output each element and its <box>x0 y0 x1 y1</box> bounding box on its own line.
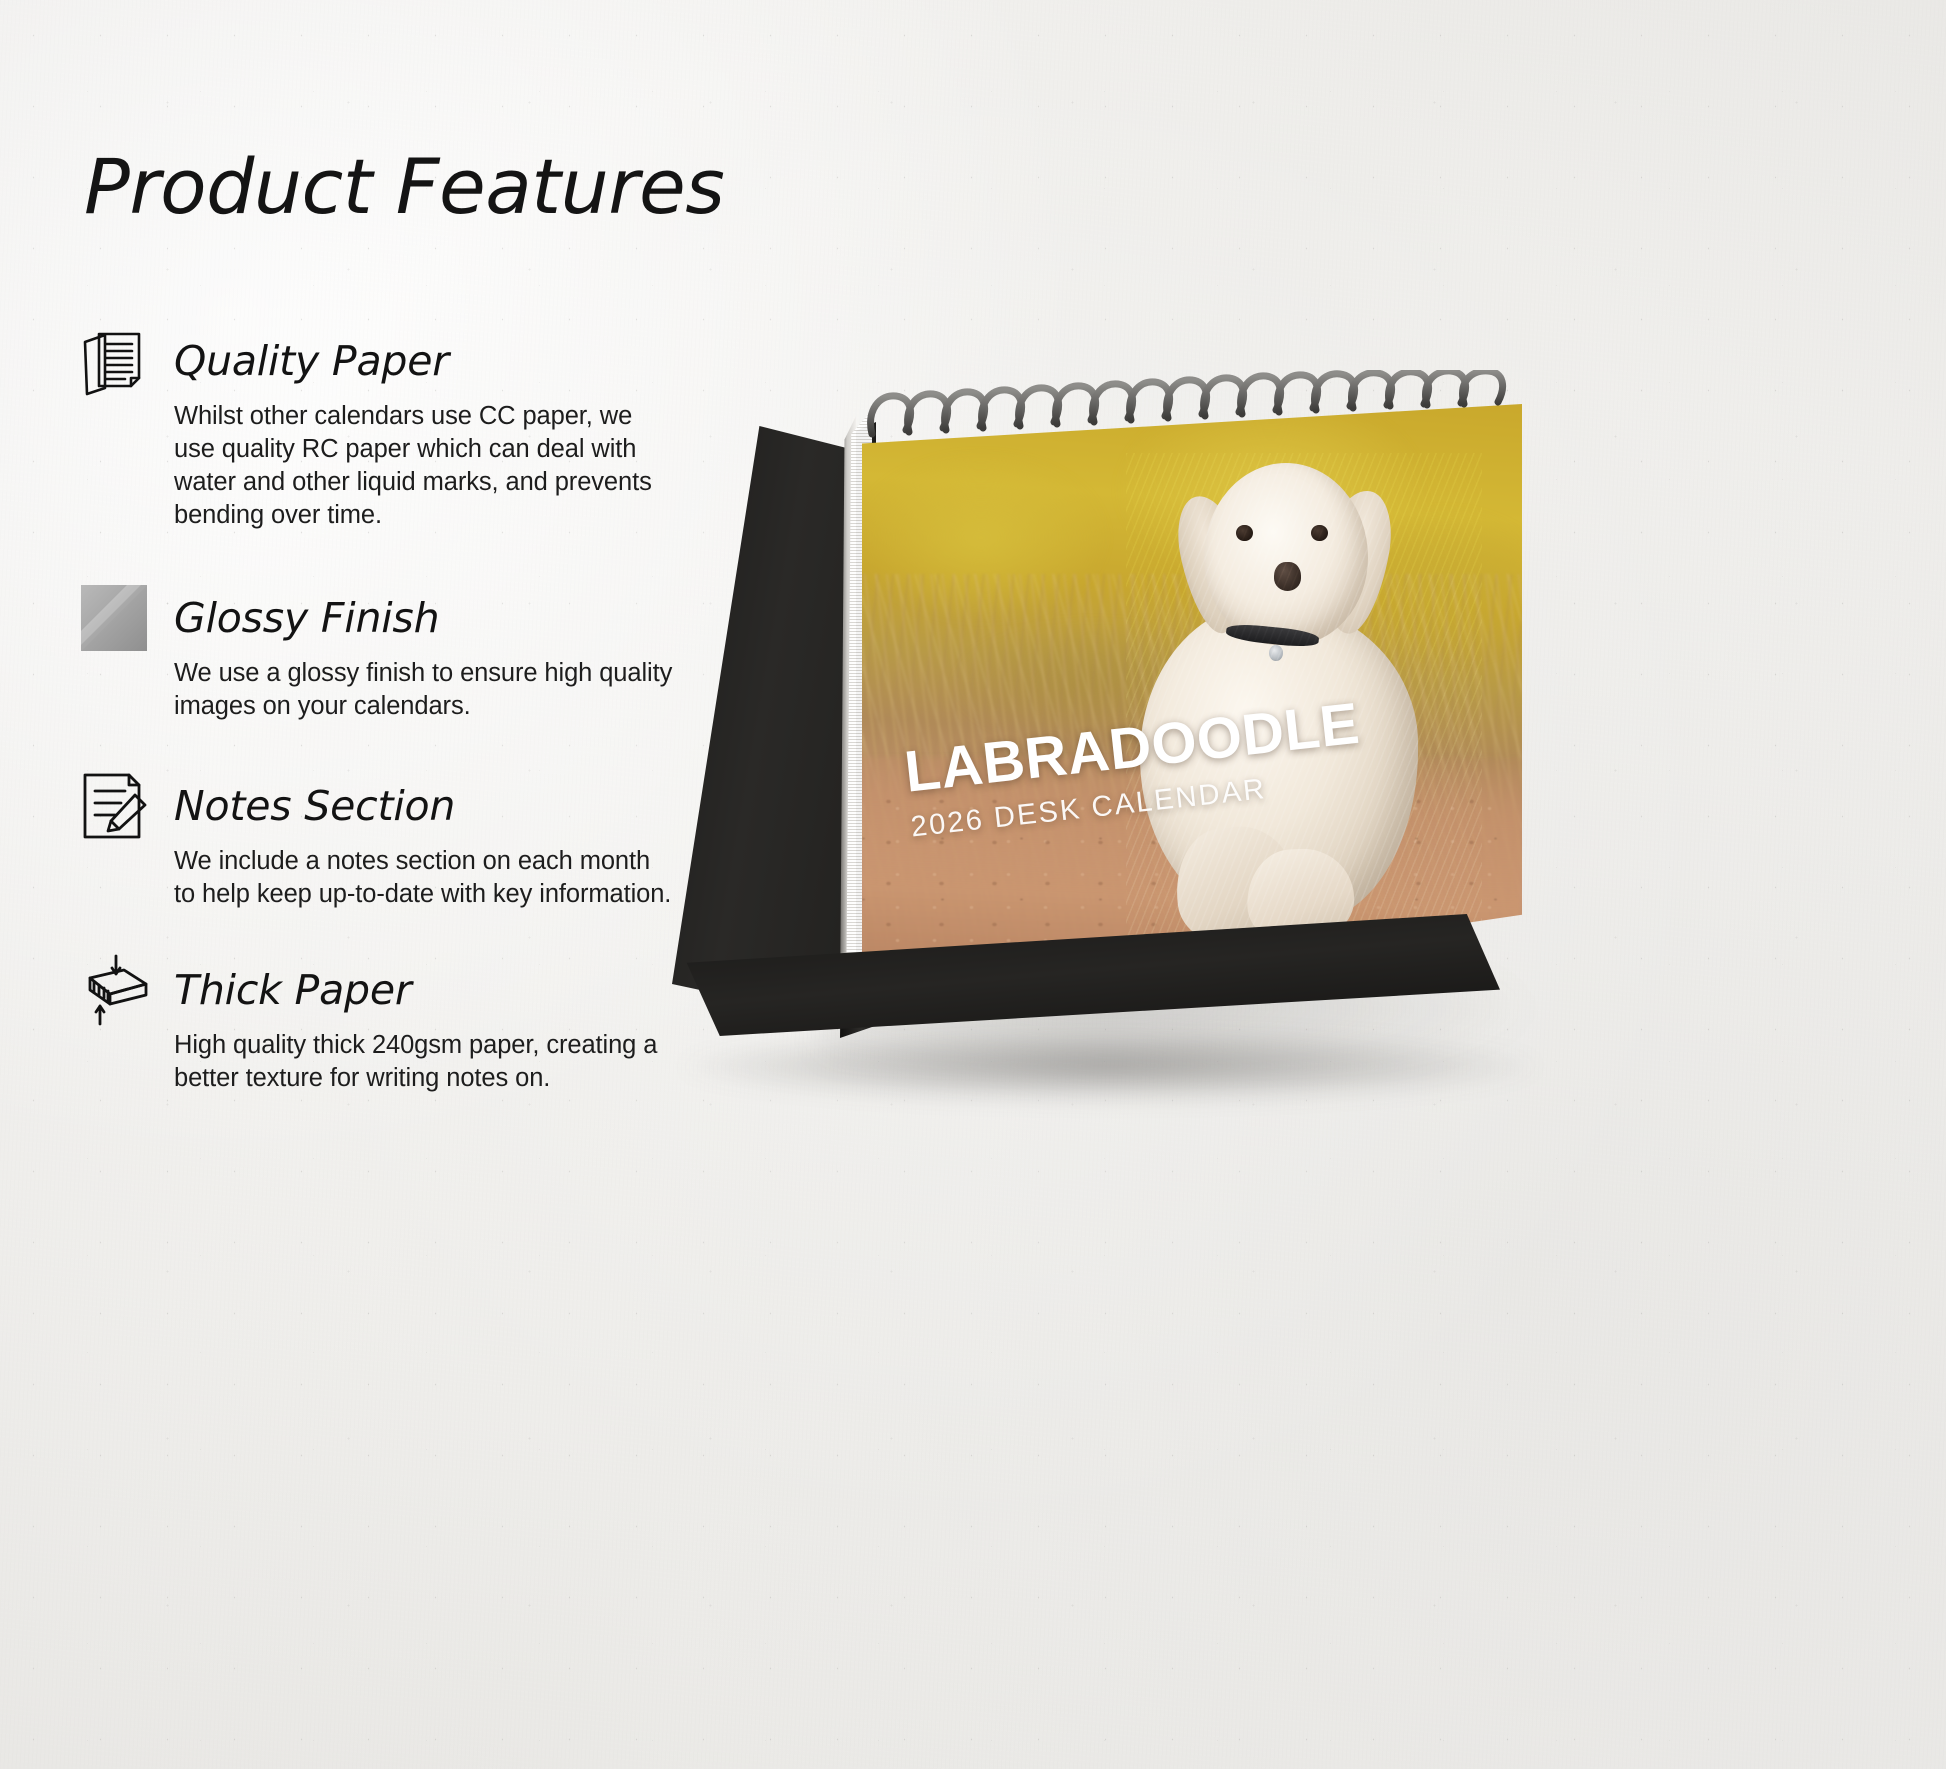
note-pencil-icon <box>72 765 156 847</box>
labradoodle-dog-photo <box>1126 453 1482 988</box>
glossy-square-icon <box>72 577 156 659</box>
feature-description: High quality thick 240gsm paper, creatin… <box>174 1029 674 1095</box>
page-title: Product Features <box>84 142 724 231</box>
feature-item-glossy-finish: Glossy Finish We use a glossy finish to … <box>72 575 692 723</box>
paper-thickness-icon <box>72 949 156 1031</box>
feature-title: Notes Section <box>174 782 455 830</box>
feature-title: Quality Paper <box>174 337 449 385</box>
feature-description: We include a notes section on each month… <box>174 845 674 911</box>
feature-item-thick-paper: Thick Paper High quality thick 240gsm pa… <box>72 947 692 1095</box>
feature-title: Glossy Finish <box>174 594 439 642</box>
feature-item-quality-paper: Quality Paper Whilst other calendars use… <box>72 318 692 533</box>
dog-fur-texture <box>1126 453 1482 988</box>
feature-header: Notes Section <box>72 763 692 849</box>
feature-description: We use a glossy finish to ensure high qu… <box>174 657 674 723</box>
feature-header: Glossy Finish <box>72 575 692 661</box>
product-features-page: Product Features Quality Paper <box>0 0 1946 1769</box>
feature-description: Whilst other calendars use CC paper, we … <box>174 400 674 533</box>
feature-list: Quality Paper Whilst other calendars use… <box>72 318 692 1129</box>
calendar-drop-shadow <box>680 1030 1540 1102</box>
feature-title: Thick Paper <box>174 966 412 1014</box>
feature-item-notes-section: Notes Section We include a notes section… <box>72 763 692 911</box>
wire-binding-icon <box>854 370 1544 460</box>
feature-header: Quality Paper <box>72 318 692 404</box>
feature-header: Thick Paper <box>72 947 692 1033</box>
stacked-documents-icon <box>72 320 156 402</box>
desk-calendar-mockup: LABRADOODLE 2026 DESK CALENDAR <box>640 330 1920 1150</box>
